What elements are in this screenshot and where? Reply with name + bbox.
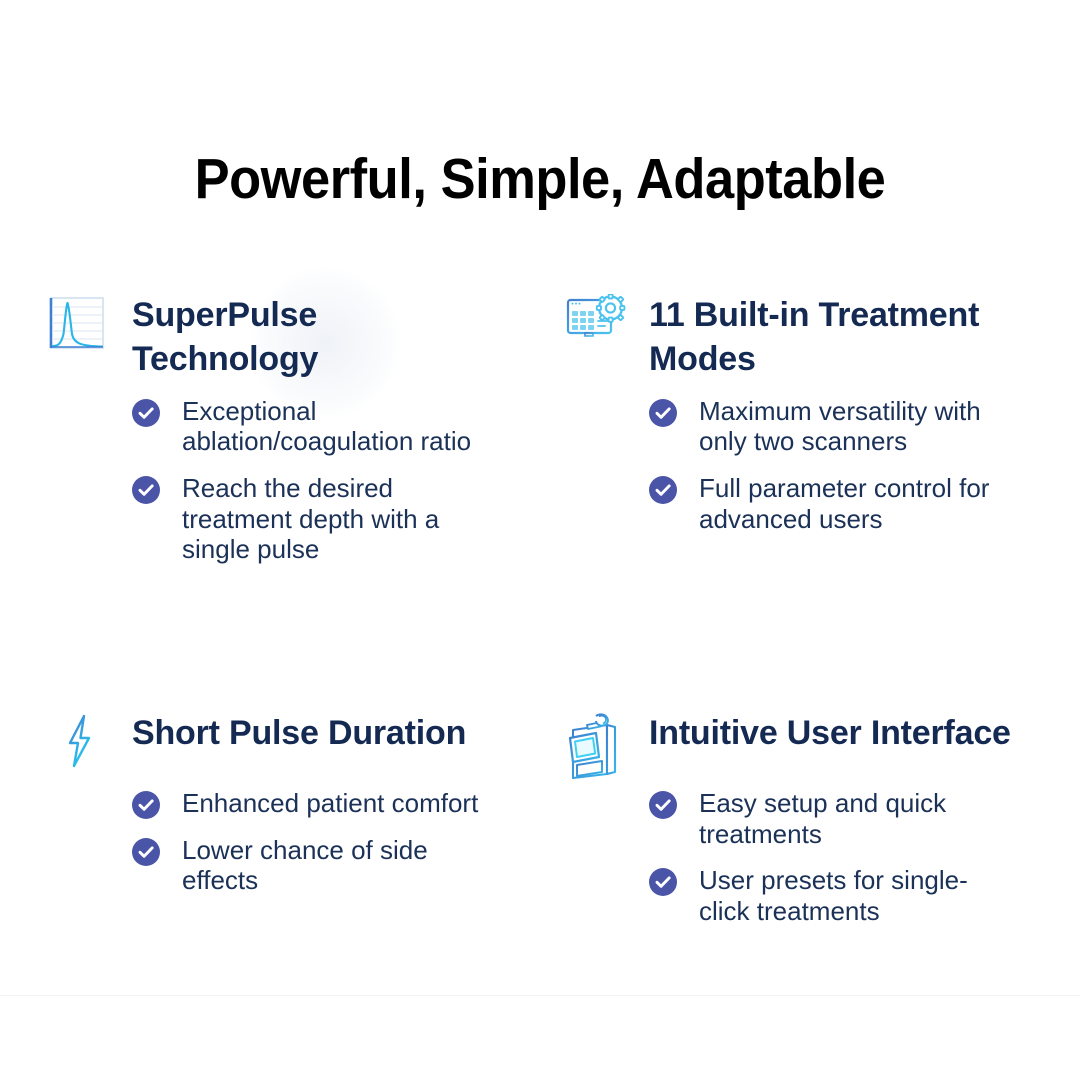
feature-card-short-pulse-duration: Short Pulse Duration Enhanced patient co…	[48, 712, 498, 896]
feature-grid-page: Powerful, Simple, Adaptable	[0, 0, 1080, 1080]
bullet-text: Exceptional ablation/coagulation ratio	[182, 396, 498, 457]
bullet-text: Full parameter control for advanced user…	[699, 473, 1015, 534]
lightning-bolt-icon	[48, 712, 114, 774]
feature-card-superpulse-technology: SuperPulse Technology Exceptional ablati…	[48, 294, 498, 565]
list-item: Reach the desired treatment depth with a…	[132, 473, 498, 565]
check-circle-icon	[649, 791, 677, 819]
feature-title: Short Pulse Duration	[48, 712, 498, 756]
list-item: Full parameter control for advanced user…	[649, 473, 1015, 534]
feature-header: Intuitive User Interface	[565, 712, 1015, 774]
check-circle-icon	[649, 399, 677, 427]
bullet-text: Easy setup and quick treatments	[699, 788, 1015, 849]
feature-title: 11 Built-in Treatment Modes	[565, 294, 1015, 382]
check-circle-icon	[649, 476, 677, 504]
bullet-text: Enhanced patient comfort	[182, 788, 498, 819]
list-item: Lower chance of side effects	[132, 835, 498, 896]
bullet-text: Maximum versatility with only two scanne…	[699, 396, 1015, 457]
list-item: Enhanced patient comfort	[132, 788, 498, 819]
pulse-chart-icon	[48, 294, 114, 356]
laser-console-icon	[565, 712, 631, 774]
feature-header: 11 Built-in Treatment Modes	[565, 294, 1015, 382]
bullet-text: Reach the desired treatment depth with a…	[182, 473, 498, 565]
monitor-gear-icon	[565, 294, 631, 356]
check-circle-icon	[132, 399, 160, 427]
feature-title: SuperPulse Technology	[48, 294, 498, 382]
feature-bullet-list: Enhanced patient comfort Lower chance of…	[48, 788, 498, 896]
features-grid: SuperPulse Technology Exceptional ablati…	[0, 0, 1080, 1080]
feature-title: Intuitive User Interface	[565, 712, 1015, 756]
footer-divider	[0, 995, 1080, 996]
check-circle-icon	[649, 868, 677, 896]
feature-header: SuperPulse Technology	[48, 294, 498, 382]
feature-bullet-list: Exceptional ablation/coagulation ratio R…	[48, 396, 498, 565]
list-item: Easy setup and quick treatments	[649, 788, 1015, 849]
check-circle-icon	[132, 791, 160, 819]
feature-card-built-in-treatment-modes: 11 Built-in Treatment Modes Maximum vers…	[565, 294, 1015, 534]
feature-card-intuitive-user-interface: Intuitive User Interface Easy setup and …	[565, 712, 1015, 927]
bullet-text: Lower chance of side effects	[182, 835, 498, 896]
feature-bullet-list: Easy setup and quick treatments User pre…	[565, 788, 1015, 927]
list-item: User presets for single-click treatments	[649, 865, 1015, 926]
feature-header: Short Pulse Duration	[48, 712, 498, 774]
bullet-text: User presets for single-click treatments	[699, 865, 1015, 926]
list-item: Exceptional ablation/coagulation ratio	[132, 396, 498, 457]
check-circle-icon	[132, 838, 160, 866]
check-circle-icon	[132, 476, 160, 504]
list-item: Maximum versatility with only two scanne…	[649, 396, 1015, 457]
feature-bullet-list: Maximum versatility with only two scanne…	[565, 396, 1015, 535]
